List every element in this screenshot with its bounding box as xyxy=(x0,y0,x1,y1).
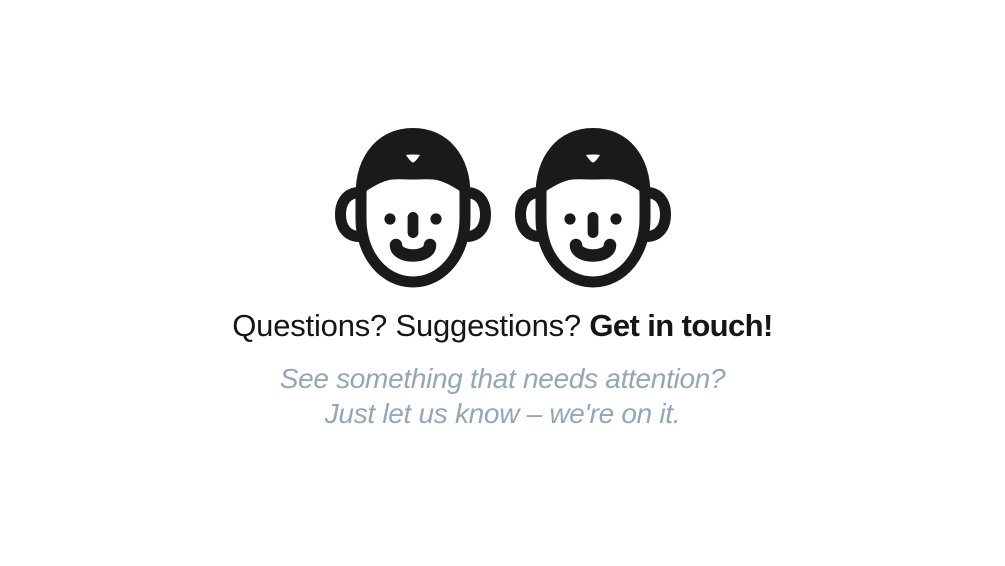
subtitle-line-2: Just let us know – we're on it. xyxy=(0,396,1005,431)
hair-quiff-notch xyxy=(580,151,605,166)
headline-light-text: Questions? Suggestions? xyxy=(232,308,589,343)
face-icon xyxy=(334,126,492,290)
right-eye xyxy=(610,213,621,224)
left-eye xyxy=(564,213,575,224)
subtitle-line-1: See something that needs attention? xyxy=(0,361,1005,396)
right-eye xyxy=(430,213,441,224)
hair-quiff-notch xyxy=(400,151,425,166)
left-eye xyxy=(384,213,395,224)
nose xyxy=(407,212,418,238)
faces-illustration xyxy=(0,126,1005,290)
headline: Questions? Suggestions? Get in touch! xyxy=(0,306,1005,346)
headline-bold-text: Get in touch! xyxy=(589,308,772,343)
nose xyxy=(587,212,598,238)
slide-canvas: Questions? Suggestions? Get in touch! Se… xyxy=(0,0,1005,566)
face-icon xyxy=(514,126,672,290)
subtitle: See something that needs attention? Just… xyxy=(0,361,1005,431)
